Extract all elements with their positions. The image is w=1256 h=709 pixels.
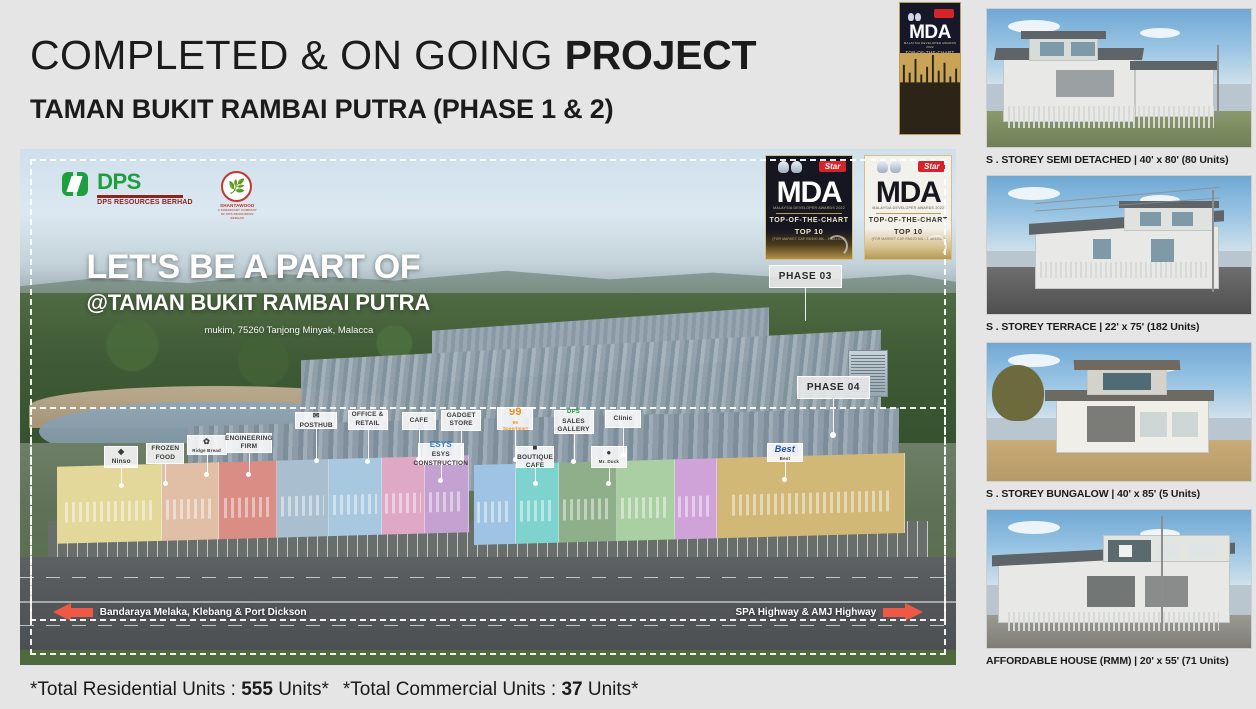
entry-porch xyxy=(1087,406,1135,442)
mda-badge-brand: MDA xyxy=(766,178,852,208)
tenant-sign-label: Ridge Bread xyxy=(192,448,221,454)
arrow-right-icon xyxy=(905,603,923,621)
page-subtitle: TAMAN BUKIT RAMBAI PUTRA (PHASE 1 & 2) xyxy=(30,94,790,125)
shantawood-logo-name: SHANTAWOOD A SUBSIDIARY COMPANY OF DPS R… xyxy=(216,203,258,220)
tenant-sign-label: FROZEN FOOD xyxy=(150,445,180,461)
tenant-logo-icon: ● xyxy=(606,448,611,458)
upper-roof xyxy=(1074,360,1180,370)
dps-mark-icon xyxy=(62,172,88,198)
commercial-suffix: Units* xyxy=(583,679,639,700)
tenant-sign-label: SALES GALLERY xyxy=(557,418,589,434)
tenant-sign: Clinic xyxy=(605,410,641,428)
sign-anchor-dot xyxy=(571,459,576,464)
tenant-sign: ENGINEERING FIRM xyxy=(226,433,272,453)
mda-badge-dark: Star MDA MALAYSIA DEVELOPER AWARDS 2022 … xyxy=(765,155,853,260)
window xyxy=(1103,373,1151,390)
arrow-left-icon xyxy=(53,603,71,621)
sign-anchor-dot xyxy=(119,483,124,488)
tenant-sign-label: OFFICE & RETAIL xyxy=(352,411,384,427)
window xyxy=(1172,212,1193,226)
direction-west-label: Bandaraya Melaka, Klebang & Port Dickson xyxy=(100,607,307,618)
direction-west: Bandaraya Melaka, Klebang & Port Dickson xyxy=(53,603,307,621)
roadside-grass xyxy=(20,650,956,665)
tenant-logo-icon: Best xyxy=(775,444,795,455)
utility-pole xyxy=(1217,45,1219,117)
tenant-sign: ✿Ridge Bread xyxy=(187,435,227,455)
road-lane-marking xyxy=(20,577,956,578)
window xyxy=(1119,545,1132,557)
mda-award-banner: MDA MALAYSIA DEVELOPER AWARDS 2022 TOP-O… xyxy=(899,2,961,135)
mda-badge-award-line: MALAYSIA DEVELOPER AWARDS 2022 xyxy=(766,206,852,210)
skyline-silhouette-icon xyxy=(900,53,960,134)
star-logo-icon: Star xyxy=(819,161,846,172)
tenant-logo-icon: ✉ xyxy=(313,411,320,421)
hero-subheadline: @TAMAN BUKIT RAMBAI PUTRA xyxy=(86,290,430,316)
leaf-icon: 🌿 xyxy=(228,179,245,193)
product-card[interactable]: S . STOREY TERRACE | 22' x 75' (182 Unit… xyxy=(986,175,1252,333)
carporch xyxy=(1056,70,1114,98)
mda-badge-chart: TOP-OF-THE-CHART xyxy=(766,217,852,224)
dps-logo-rule xyxy=(97,195,183,198)
car-porch xyxy=(1087,576,1135,606)
page-header: COMPLETED & ON GOING PROJECT TAMAN BUKIT… xyxy=(30,34,790,125)
product-card[interactable]: S . STOREY BUNGALOW | 40' x 85' (5 Units… xyxy=(986,342,1252,500)
residential-value: 555 xyxy=(241,679,273,700)
shop-unit xyxy=(383,457,426,536)
hero-headline-group: LET'S BE A PART OF @TAMAN BUKIT RAMBAI P… xyxy=(86,250,430,336)
shantawood-logo-subtitle: A SUBSIDIARY COMPANY OF DPS RESOURCES BE… xyxy=(216,208,258,220)
sign-leader-line xyxy=(574,433,575,459)
window xyxy=(1140,412,1166,437)
tenant-logo-icon: 99 xyxy=(509,406,522,420)
product-photo-bungalow xyxy=(986,342,1252,482)
dps-logo-subtitle: DPS RESOURCES BERHAD xyxy=(97,199,193,206)
product-card[interactable]: S . STOREY SEMI DETACHED | 40' x 80' (80… xyxy=(986,8,1252,166)
tenant-sign: DPSSALES GALLERY xyxy=(554,410,594,434)
residential-suffix: Units* xyxy=(273,679,329,700)
product-photo-affordable xyxy=(986,509,1252,649)
tenant-sign-label: Clinic xyxy=(614,415,633,423)
palm-tree xyxy=(992,365,1044,421)
tenant-sign: GADGET STORE xyxy=(441,410,481,431)
utility-pole xyxy=(1212,190,1214,292)
product-caption: S . STOREY BUNGALOW | 40' x 85' (5 Units… xyxy=(986,488,1252,500)
product-caption: S . STOREY SEMI DETACHED | 40' x 80' (80… xyxy=(986,154,1252,166)
tenant-sign-label: GADGET STORE xyxy=(445,412,477,428)
hero-headline: LET'S BE A PART OF xyxy=(86,250,430,284)
mda-badge-rule xyxy=(876,213,941,214)
shantawood-logo: 🌿 SHANTAWOOD A SUBSIDIARY COMPANY OF DPS… xyxy=(221,171,252,202)
road-lane-marking xyxy=(20,625,956,626)
sign-leader-line xyxy=(535,467,536,481)
mda-badge-brand: MDA xyxy=(865,178,951,208)
fence xyxy=(1008,612,1219,631)
product-type-sidebar: S . STOREY SEMI DETACHED | 40' x 80' (80… xyxy=(986,8,1252,676)
hero-address: mukim, 75260 Tanjong Minyak, Malacca xyxy=(204,325,430,336)
totals-summary: *Total Residential Units : 555 Units**To… xyxy=(30,679,639,701)
window xyxy=(1040,42,1064,56)
sign-anchor-dot xyxy=(163,481,168,486)
tenant-logo-icon: DPS xyxy=(567,409,580,417)
product-photo-terrace xyxy=(986,175,1252,315)
tenant-sign: 9999 Speedmart xyxy=(497,407,533,430)
tenant-sign: CAFE xyxy=(402,412,436,430)
upper-floor xyxy=(1124,206,1214,231)
page-title-light: COMPLETED & ON GOING xyxy=(30,32,565,78)
banner-award-line: MALAYSIA DEVELOPER AWARDS 2022 xyxy=(900,41,960,49)
dps-logo: DPS DPS RESOURCES BERHAD xyxy=(62,172,193,205)
product-photo-semi-detached xyxy=(986,8,1252,148)
tenant-logo-icon: ◆ xyxy=(118,447,124,457)
tenant-sign: FROZEN FOOD xyxy=(146,443,184,464)
shantawood-ring-icon: 🌿 xyxy=(221,171,252,202)
swirl-ornament-icon xyxy=(826,235,848,257)
tenant-sign: ■BOUTIQUE CAFE xyxy=(516,446,554,468)
swirl-ornament-icon xyxy=(925,235,947,257)
shop-unit xyxy=(675,458,717,539)
tenant-logo-icon: ✿ xyxy=(203,437,210,447)
window xyxy=(1172,412,1198,437)
dps-logo-name: DPS xyxy=(97,172,193,193)
direction-east: SPA Highway & AMJ Highway xyxy=(735,603,923,621)
sign-anchor-dot xyxy=(365,459,370,464)
sign-leader-line xyxy=(165,463,166,481)
tenant-sign-label: CAFE xyxy=(410,417,429,425)
residential-prefix: *Total Residential Units : xyxy=(30,679,241,700)
product-card[interactable]: AFFORDABLE HOUSE (RMM) | 20' x 55' (71 U… xyxy=(986,509,1252,667)
tenant-sign: ●Mr. Duck xyxy=(591,446,627,468)
star-logo-icon xyxy=(934,9,954,18)
tenant-sign: BestBest xyxy=(767,443,803,462)
tenant-sign: ◆Ninso xyxy=(104,446,138,468)
shop-unit xyxy=(277,459,330,538)
shop-unit xyxy=(617,459,675,541)
trophy-cups-icon xyxy=(877,160,907,174)
mda-badge-chart: TOP-OF-THE-CHART xyxy=(865,217,951,224)
sign-anchor-dot xyxy=(314,458,319,463)
window xyxy=(1071,42,1095,56)
fence xyxy=(1040,262,1209,279)
sign-leader-line xyxy=(785,461,786,477)
fence xyxy=(1008,106,1214,128)
sign-leader-line xyxy=(368,429,369,459)
shop-unit xyxy=(474,463,516,544)
mda-badge-light: Star MDA MALAYSIA DEVELOPER AWARDS 2022 … xyxy=(864,155,952,260)
star-logo-icon: Star xyxy=(918,161,945,172)
tenant-sign: ✉POSTHUB xyxy=(295,412,337,429)
mda-badge-award-line: MALAYSIA DEVELOPER AWARDS 2022 xyxy=(865,206,951,210)
mda-badge-rule xyxy=(776,213,841,214)
window xyxy=(1151,239,1175,261)
terrace-row xyxy=(1035,226,1220,289)
trophy-cups-icon xyxy=(908,8,924,18)
arrow-left-tail xyxy=(71,608,93,617)
upper-roof xyxy=(1021,31,1105,39)
window xyxy=(1093,239,1111,258)
phase-label-03: PHASE 03 xyxy=(769,265,842,288)
commercial-prefix: *Total Commercial Units : xyxy=(343,679,562,700)
shop-unit xyxy=(57,464,162,544)
trophy-cups-icon xyxy=(778,160,808,174)
shop-unit xyxy=(717,453,904,538)
window xyxy=(1156,543,1180,558)
phase-label-04: PHASE 04 xyxy=(797,376,870,399)
tenant-sign-label: Ninso xyxy=(112,458,131,466)
window xyxy=(1188,543,1217,558)
tenant-sign: ESYSESYS CONSTRUCTION xyxy=(418,443,464,465)
tenant-sign-label: ENGINEERING FIRM xyxy=(225,435,273,451)
tenant-logo-icon: ■ xyxy=(533,443,538,453)
sign-anchor-dot xyxy=(533,481,538,486)
window xyxy=(1140,212,1161,226)
car-porch xyxy=(1145,576,1187,606)
product-caption: AFFORDABLE HOUSE (RMM) | 20' x 55' (71 U… xyxy=(986,655,1252,667)
direction-east-label: SPA Highway & AMJ Highway xyxy=(735,607,876,618)
tenant-sign-label: Mr. Duck xyxy=(599,459,619,465)
masterplan-hero-image: DPS DPS RESOURCES BERHAD 🌿 SHANTAWOOD A … xyxy=(20,149,956,665)
shop-unit xyxy=(330,458,383,537)
sign-leader-line xyxy=(609,467,610,481)
page-title: COMPLETED & ON GOING PROJECT xyxy=(30,34,790,77)
product-caption: S . STOREY TERRACE | 22' x 75' (182 Unit… xyxy=(986,321,1252,333)
roof xyxy=(1130,61,1220,69)
shop-unit xyxy=(516,462,558,543)
page-title-bold: PROJECT xyxy=(565,32,757,78)
commercial-shop-block-left xyxy=(57,455,469,544)
tenant-logo-icon: ESYS xyxy=(430,440,452,450)
commercial-value: 37 xyxy=(561,679,582,700)
sign-leader-line xyxy=(207,454,208,472)
sign-leader-line xyxy=(121,467,122,483)
tenant-sign: OFFICE & RETAIL xyxy=(348,410,388,430)
cloud xyxy=(1008,187,1060,200)
shop-unit xyxy=(162,462,219,541)
sign-leader-line xyxy=(441,464,442,478)
utility-pole xyxy=(1161,516,1163,626)
sign-leader-line xyxy=(316,428,317,458)
cloud xyxy=(1008,521,1060,534)
arrow-right-tail xyxy=(883,608,905,617)
sign-leader-line xyxy=(249,452,250,472)
